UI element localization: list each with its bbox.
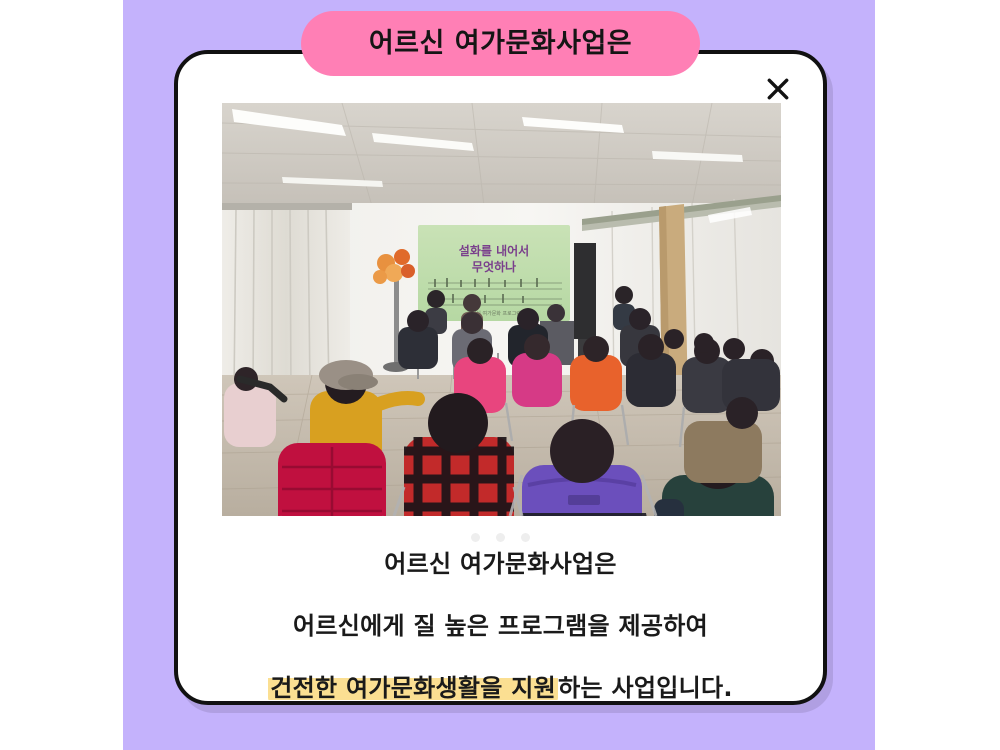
- title-badge: 어르신 여가문화사업은: [301, 11, 700, 76]
- popup-card: 설화를 내어서 무엇하나: [174, 50, 827, 705]
- description-line-3: 건전한 여가문화생활을 지원하는 사업입니다.: [178, 676, 823, 700]
- close-icon[interactable]: [761, 72, 795, 106]
- carousel-dot-3[interactable]: [521, 533, 530, 542]
- svg-text:설화를 내어서: 설화를 내어서: [459, 243, 529, 258]
- description-block: 어르신 여가문화사업은 어르신에게 질 높은 프로그램을 제공하여 건전한 여가…: [178, 552, 823, 700]
- carousel-dot-2[interactable]: [496, 533, 505, 542]
- carousel-dots: [178, 533, 823, 542]
- description-line-3-rest: 하는 사업입니다.: [558, 674, 733, 702]
- close-x-glyph: [765, 76, 791, 102]
- svg-text:무엇하나: 무엇하나: [472, 259, 516, 274]
- photo-illustration: 설화를 내어서 무엇하나: [222, 103, 781, 516]
- carousel-dot-1[interactable]: [471, 533, 480, 542]
- description-line-1: 어르신 여가문화사업은: [178, 552, 823, 576]
- screen: 설화를 내어서 무엇하나: [0, 0, 1000, 750]
- description-line-2: 어르신에게 질 높은 프로그램을 제공하여: [178, 614, 823, 638]
- carousel-photo[interactable]: 설화를 내어서 무엇하나: [222, 103, 781, 516]
- highlighted-text: 건전한 여가문화생활을 지원: [268, 674, 558, 702]
- page-title: 어르신 여가문화사업은: [369, 30, 632, 57]
